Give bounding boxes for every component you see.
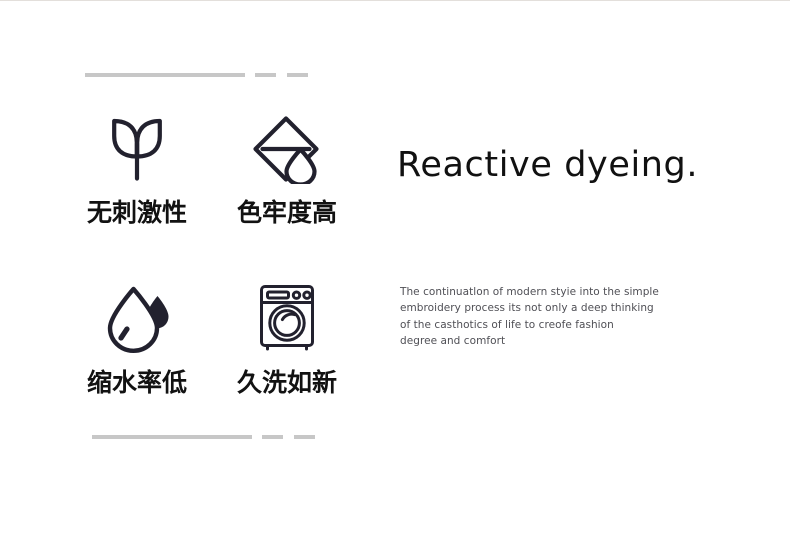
- divider-bottom-dash-2: [294, 435, 315, 439]
- divider-top-dash-1: [255, 73, 276, 77]
- body-line: degree and comfort: [400, 333, 650, 349]
- divider-top: [85, 73, 315, 77]
- feature-grid: 无刺激性 色牢度高: [62, 110, 362, 395]
- feature-item-no-irritation: 无刺激性: [62, 110, 212, 225]
- body-line: embroidery process its not only a deep t…: [400, 300, 650, 316]
- sprout-leaf-icon: [100, 110, 174, 186]
- feature-item-colorfastness: 色牢度高: [212, 110, 362, 225]
- divider-bottom-dash-1: [262, 435, 283, 439]
- feature-label: 无刺激性: [87, 200, 187, 225]
- feature-item-wash-durable: 久洗如新: [212, 280, 362, 395]
- divider-bottom-rule: [92, 435, 252, 439]
- top-edge-hairline: [0, 0, 790, 1]
- feature-item-low-shrinkage: 缩水率低: [62, 280, 212, 395]
- poster-canvas: 无刺激性 色牢度高: [0, 0, 790, 551]
- water-droplet-icon: [100, 280, 174, 356]
- divider-bottom: [92, 435, 322, 439]
- divider-top-rule: [85, 73, 245, 77]
- body-line: of the casthotics of life to creofe fash…: [400, 317, 650, 333]
- washing-machine-icon: [250, 280, 324, 356]
- body-line: The continuatlon of modern styie into th…: [400, 284, 650, 300]
- feature-row-bottom: 缩水率低 久洗: [62, 280, 362, 395]
- diamond-droplet-icon: [250, 110, 324, 186]
- page-title: Reactive dyeing.: [397, 146, 757, 185]
- body-paragraph: The continuatlon of modern styie into th…: [400, 284, 650, 350]
- right-text-panel: Reactive dyeing. The continuatlon of mod…: [397, 146, 757, 185]
- feature-label: 久洗如新: [237, 370, 337, 395]
- feature-row-top: 无刺激性 色牢度高: [62, 110, 362, 225]
- feature-label: 缩水率低: [87, 370, 187, 395]
- feature-label: 色牢度高: [237, 200, 337, 225]
- divider-top-dash-2: [287, 73, 308, 77]
